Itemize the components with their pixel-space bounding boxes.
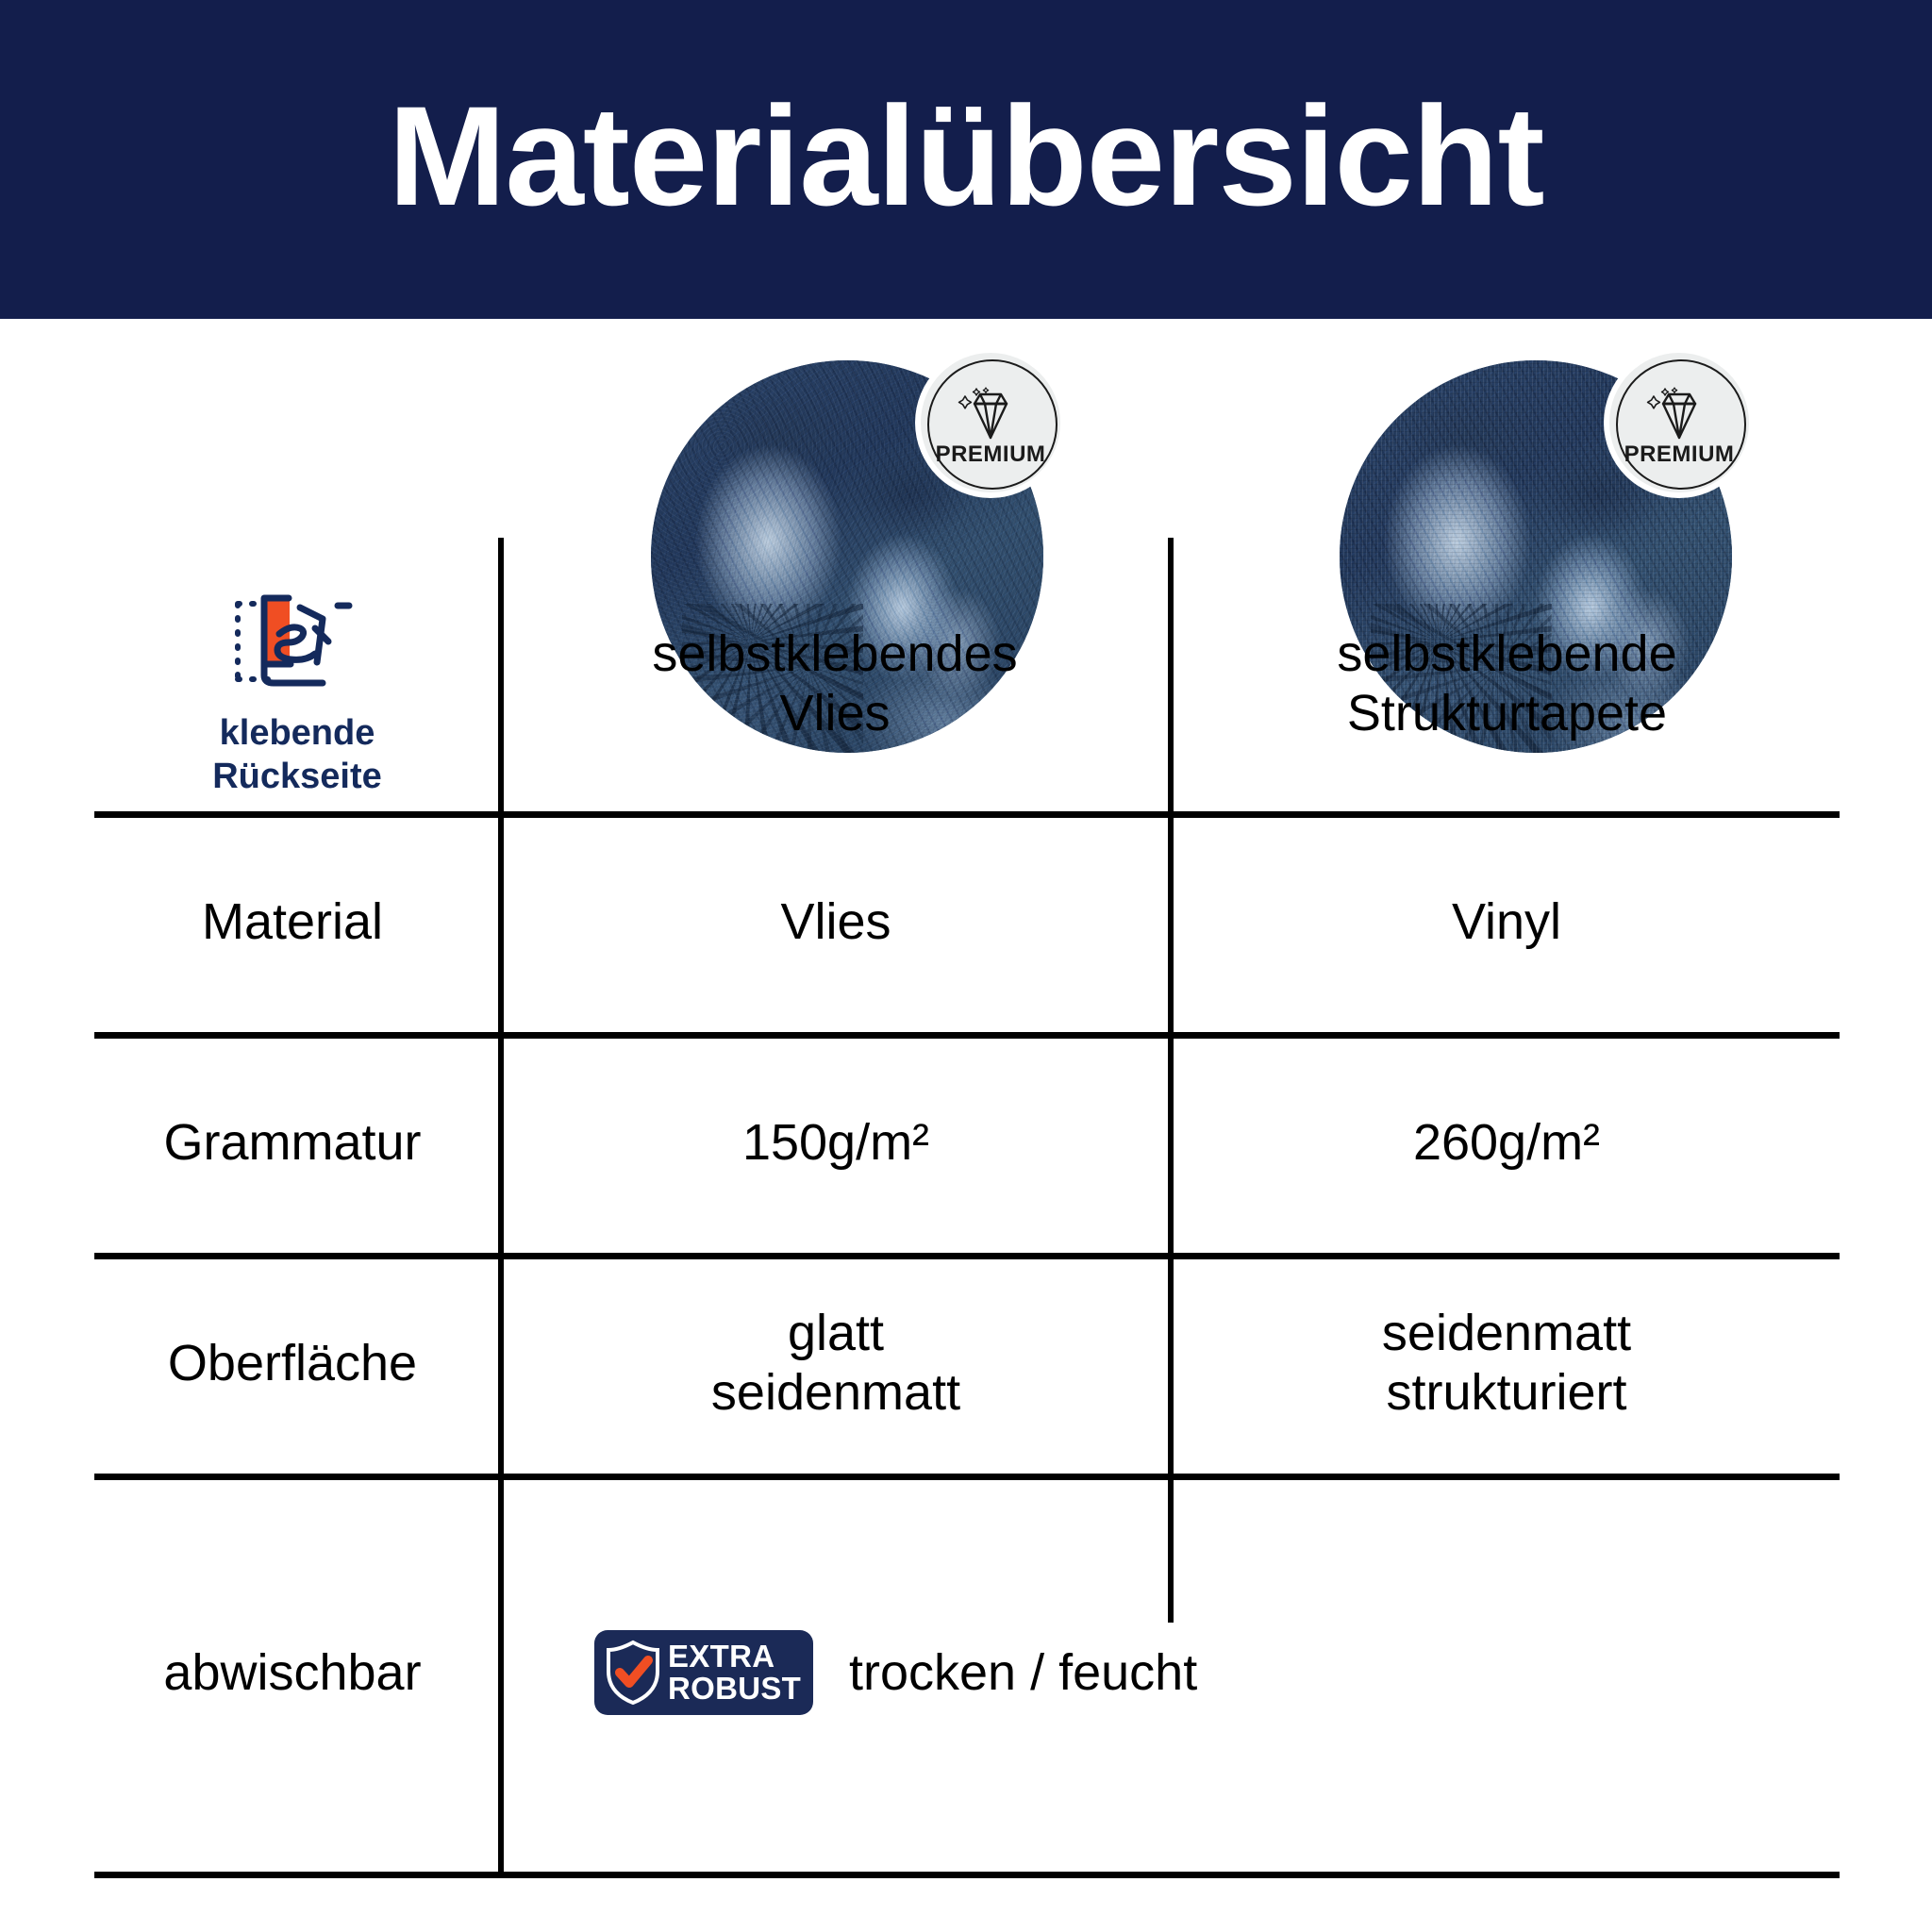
page-title: Materialübersicht (388, 85, 1543, 226)
table-cell-value: Vinyl (1174, 811, 1840, 1032)
table-cell-value: trocken / feucht (849, 1474, 1434, 1872)
shield-check-icon (604, 1640, 662, 1706)
table-row-label: abwischbar (94, 1474, 491, 1872)
table-row-label: Oberfläche (94, 1253, 491, 1474)
adhesive-backing-line1: klebende (212, 711, 382, 755)
diamond-icon (1644, 387, 1714, 441)
table-cell-line1: glatt (788, 1304, 884, 1363)
table-header-col1-line2: Vlies (779, 684, 890, 743)
adhesive-backing-line2: Rückseite (212, 755, 382, 798)
table-cell-value: glatt seidenmatt (504, 1253, 1168, 1474)
page-header: Materialübersicht (0, 0, 1932, 319)
table-header-col1: selbstklebendes Vlies (500, 594, 1170, 774)
table-cell-value: 150g/m² (504, 1032, 1168, 1253)
table-row-label: Grammatur (94, 1032, 491, 1253)
adhesive-backing-label: klebende Rückseite (212, 711, 382, 799)
material-comparison-table: klebende Rückseite selbstklebendes Vlies… (94, 811, 1840, 1877)
extra-robust-line1: EXTRA (668, 1641, 801, 1673)
table-cell-line2: strukturiert (1386, 1363, 1626, 1423)
table-cell-value: seidenmatt strukturiert (1174, 1253, 1840, 1474)
table-header-col1-line1: selbstklebendes (652, 625, 1017, 684)
table-cell-value: Vlies (504, 811, 1168, 1032)
extra-robust-line2: ROBUST (668, 1673, 801, 1705)
table-row-label: Material (94, 811, 491, 1032)
table-rule (94, 1872, 1840, 1878)
premium-badge: PREMIUM (1609, 353, 1749, 492)
table-cell-line1: seidenmatt (1382, 1304, 1631, 1363)
peeling-sheet-hand-icon (217, 585, 377, 698)
extra-robust-label: EXTRA ROBUST (668, 1641, 801, 1704)
table-header-col2-line2: Strukturtapete (1347, 684, 1667, 743)
table-cell-line2: seidenmatt (711, 1363, 960, 1423)
extra-robust-badge: EXTRA ROBUST (594, 1630, 813, 1715)
table-header-col2: selbstklebende Strukturtapete (1174, 594, 1840, 774)
premium-badge: PREMIUM (921, 353, 1060, 492)
table-cell-value: 260g/m² (1174, 1032, 1840, 1253)
diamond-icon (956, 387, 1025, 441)
table-header-col2-line1: selbstklebende (1337, 625, 1676, 684)
